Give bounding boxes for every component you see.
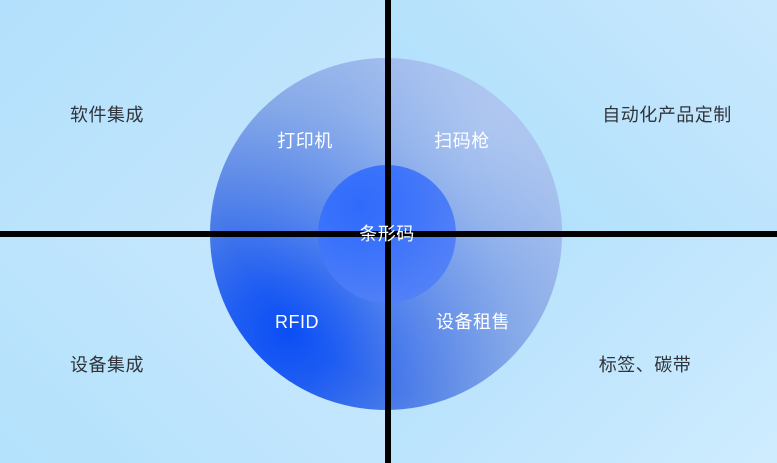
outer-quadrant-label-top-right: 自动化产品定制 (602, 106, 732, 124)
outer-quadrant-label-bottom-right: 标签、碳带 (599, 356, 692, 374)
inner-quadrant-label-bottom-left: RFID (275, 313, 319, 331)
inner-quadrant-label-top-right: 扫码枪 (434, 132, 490, 150)
inner-quadrant-label-bottom-right: 设备租售 (436, 313, 510, 331)
inner-quadrant-label-top-left: 打印机 (277, 132, 333, 150)
outer-quadrant-label-bottom-left: 设备集成 (70, 356, 144, 374)
center-circle-label: 条形码 (359, 225, 415, 243)
outer-quadrant-label-top-left: 软件集成 (70, 106, 144, 124)
quadrant-diagram: 打印机 扫码枪 RFID 设备租售 条形码 软件集成 自动化产品定制 设备集成 … (0, 0, 777, 463)
